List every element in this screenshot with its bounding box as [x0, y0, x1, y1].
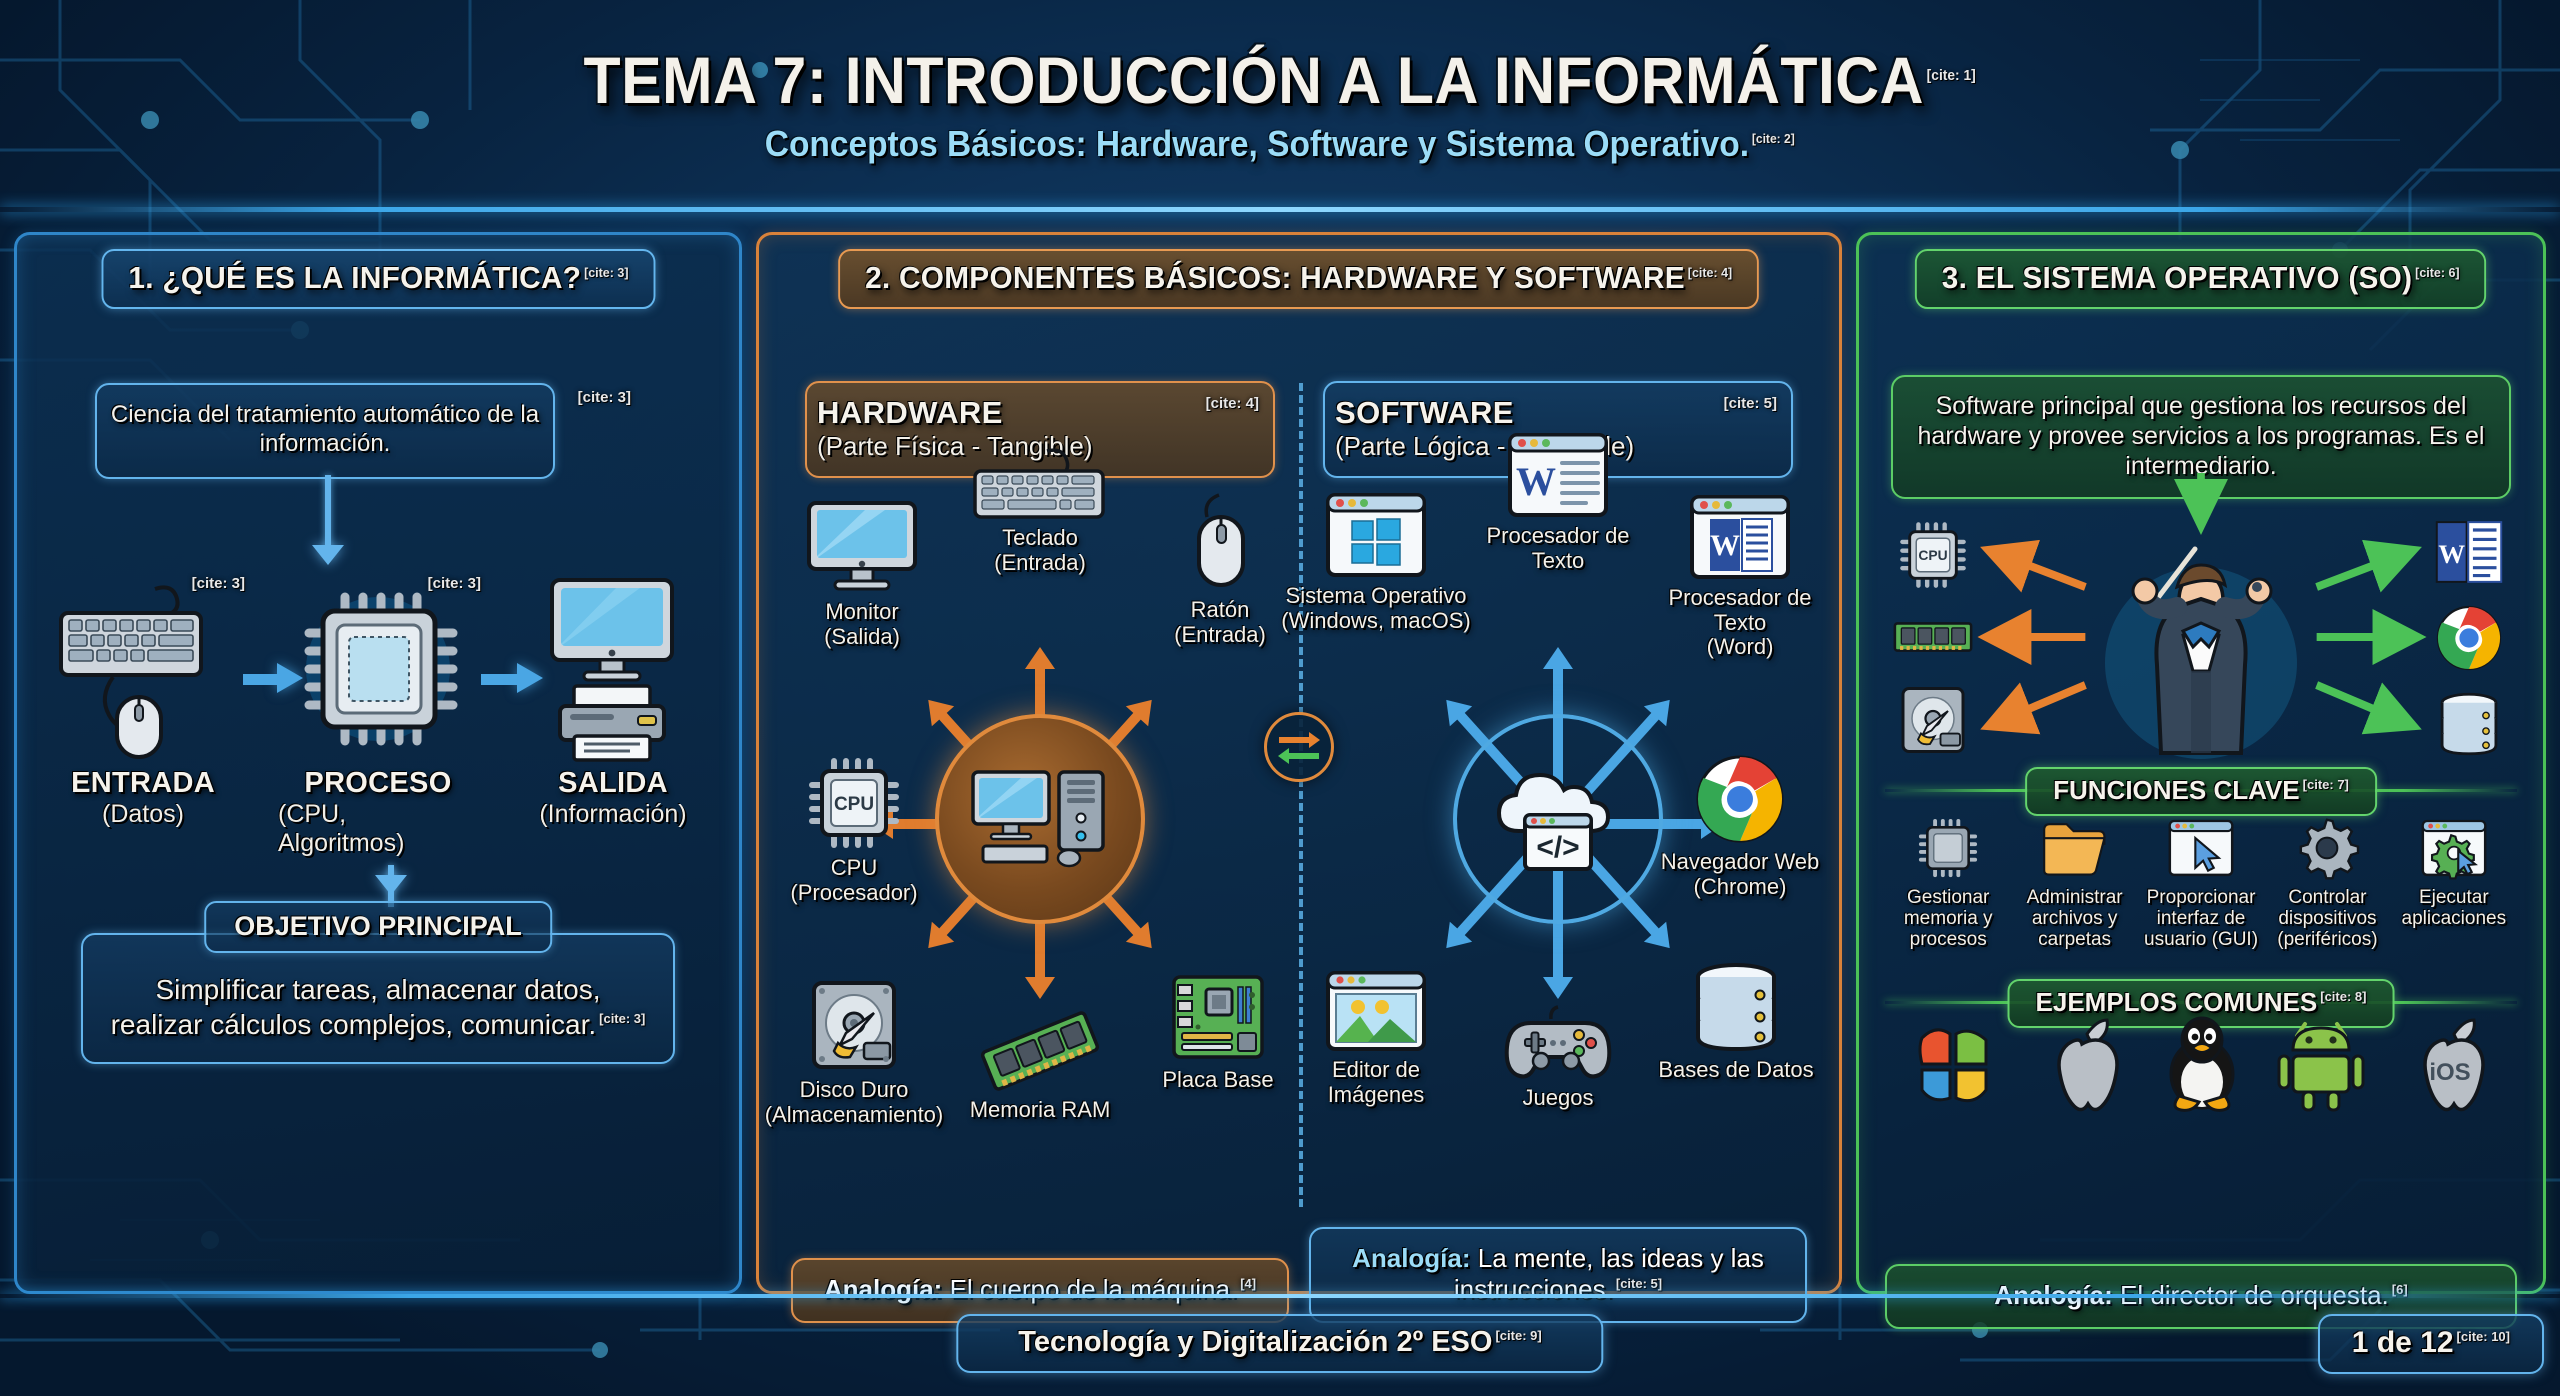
node-editor-imagenes: Editor de Imágenes	[1281, 969, 1471, 1107]
svg-text:</>: </>	[1536, 831, 1579, 864]
hardware-column: HARDWARE (Parte Física - Tangible) [cite…	[781, 381, 1299, 1331]
panel2-title-text: 2. COMPONENTES BÁSICOS: HARDWARE Y SOFTW…	[865, 260, 1685, 295]
software-hub-area: </>	[1299, 509, 1817, 1169]
cpu-chip-icon	[1917, 817, 1979, 879]
page-subtitle: Conceptos Básicos: Hardware, Software y …	[765, 123, 1795, 165]
node-cpu: CPU CPU(Procesador)	[759, 755, 949, 905]
flow-step-salida: SALIDA (Información)	[513, 571, 713, 829]
node-juegos-label: Juegos	[1523, 1085, 1594, 1110]
connector-arrow-obj	[375, 875, 407, 895]
page-indicator: 1 de 12[cite: 10]	[2318, 1314, 2544, 1374]
panel-sistema-operativo: 3. EL SISTEMA OPERATIVO (SO)[cite: 6] So…	[1856, 232, 2546, 1294]
funcion-4-label: Ejecutar aplicaciones	[2391, 888, 2517, 930]
linux-penguin-icon	[2163, 1016, 2241, 1112]
so-software-side: W	[2419, 509, 2519, 767]
node-disco-label: Disco Duro	[800, 1077, 909, 1102]
funcion-0-label: Gestionar memoria y procesos	[1885, 888, 2011, 951]
node-teclado: Teclado(Entrada)	[945, 449, 1135, 575]
panel3-title: 3. EL SISTEMA OPERATIVO (SO)[cite: 6]	[1915, 249, 2487, 309]
node-placa-label: Placa Base	[1162, 1067, 1273, 1092]
gear-icon	[2296, 817, 2358, 879]
node-procesador-label: Procesador de Texto	[1486, 523, 1629, 573]
node-raton-label: Ratón	[1191, 597, 1250, 622]
footer: Tecnología y Digitalización 2º ESO[cite:…	[0, 1294, 2560, 1396]
ejemplos-logos: iOS	[1889, 1009, 2513, 1119]
footer-subject: Tecnología y Digitalización 2º ESO[cite:…	[956, 1314, 1603, 1373]
node-so-label: Sistema Operativo	[1286, 583, 1467, 608]
panel1-title: 1. ¿QUÉ ES LA INFORMÁTICA?[cite: 3]	[101, 249, 655, 309]
node-chrome-sub: (Chrome)	[1694, 874, 1787, 899]
software-column: SOFTWARE (Parte Lógica - Intangible) [ci…	[1299, 381, 1817, 1331]
definition-citation: [cite: 3]	[578, 389, 631, 407]
hardware-citation: [cite: 4]	[1206, 395, 1259, 412]
node-sistema-operativo: Sistema Operativo(Windows, macOS)	[1281, 491, 1471, 633]
node-editor-label: Editor de Imágenes	[1328, 1057, 1425, 1107]
entrada-sublabel: (Datos)	[102, 800, 184, 829]
objective-heading: OBJETIVO PRINCIPAL	[204, 901, 552, 953]
node-monitor-sub: (Salida)	[824, 624, 900, 649]
svg-text:W: W	[1516, 459, 1556, 504]
ram-stick-icon	[975, 1009, 1105, 1093]
panel-componentes-basicos: 2. COMPONENTES BÁSICOS: HARDWARE Y SOFTW…	[756, 232, 1842, 1294]
svg-text:W: W	[2438, 539, 2465, 569]
header: TEMA 7: INTRODUCCIÓN A LA INFORMÁTICA[ci…	[0, 0, 2560, 212]
mouse-icon	[105, 677, 161, 757]
word-app-icon: W	[1688, 493, 1792, 581]
gear-cursor-window-icon	[2420, 817, 2488, 879]
node-teclado-label: Teclado	[1002, 525, 1078, 550]
hard-disk-icon	[808, 977, 900, 1073]
hardware-analogy-citation: [4]	[1240, 1276, 1256, 1292]
hardware-heading-text: HARDWARE	[817, 395, 1263, 431]
entrada-citation: [cite: 3]	[192, 575, 245, 592]
windows-logo-icon	[1908, 1018, 2000, 1110]
funcion-gestionar-memoria: Gestionar memoria y procesos	[1885, 817, 2011, 951]
funciones-citation: [cite: 7]	[2303, 777, 2349, 792]
chrome-icon	[1694, 753, 1786, 845]
keyboard-mouse-group	[55, 579, 231, 759]
node-navegador-web: Navegador Web(Chrome)	[1645, 753, 1835, 899]
header-divider	[0, 207, 2560, 212]
panel1-title-citation: [cite: 3]	[584, 265, 628, 280]
hardware-hub-area: Monitor(Salida)	[781, 509, 1299, 1169]
android-logo-icon	[2279, 1018, 2363, 1110]
cursor-window-icon	[2167, 817, 2235, 879]
node-word-sub: (Word)	[1707, 634, 1774, 659]
footer-subject-citation: [cite: 9]	[1495, 1328, 1541, 1343]
keyboard-icon	[61, 587, 201, 675]
definition-text: Ciencia del tratamiento automático de la…	[111, 401, 539, 457]
software-analogy-key: Analogía:	[1352, 1243, 1470, 1273]
title-citation: [cite: 1]	[1927, 68, 1976, 83]
objective-citation: [cite: 3]	[599, 1011, 645, 1027]
panel-que-es-la-informatica: 1. ¿QUÉ ES LA INFORMÁTICA?[cite: 3] Cien…	[14, 232, 742, 1294]
folder-icon	[2040, 817, 2110, 879]
salida-icons	[538, 571, 688, 767]
flow-step-proceso: [cite: 3] PROCESO (CPU, Algoritmos)	[278, 571, 478, 858]
node-raton-sub: (Entrada)	[1174, 622, 1266, 647]
funcion-interfaz-usuario: Proporcionar interfaz de usuario (GUI)	[2138, 817, 2264, 951]
bidirectional-exchange-icon	[1264, 712, 1334, 782]
funcion-controlar-dispositivos: Controlar dispositivos (periféricos)	[2264, 817, 2390, 951]
subtitle-citation: [cite: 2]	[1752, 131, 1795, 146]
page-subtitle-text: Conceptos Básicos: Hardware, Software y …	[765, 123, 1749, 164]
svg-text:iOS: iOS	[2429, 1059, 2470, 1086]
word-document-icon: W	[1506, 431, 1610, 519]
panel2-body: HARDWARE (Parte Física - Tangible) [cite…	[775, 309, 1823, 1337]
panel1-title-text: 1. ¿QUÉ ES LA INFORMÁTICA?	[128, 260, 581, 295]
funcion-2-label: Proporcionar interfaz de usuario (GUI)	[2138, 888, 2264, 951]
software-heading-text: SOFTWARE	[1335, 395, 1781, 431]
objective-text: Simplificar tareas, almacenar datos, rea…	[111, 974, 601, 1040]
node-cpu-label: CPU	[831, 855, 877, 880]
orchestra-conductor-icon	[2091, 513, 2311, 766]
node-word-label: Procesador de Texto	[1668, 585, 1811, 635]
infographic-canvas: TEMA 7: INTRODUCCIÓN A LA INFORMÁTICA[ci…	[0, 0, 2560, 1396]
panels-row: 1. ¿QUÉ ES LA INFORMÁTICA?[cite: 3] Cien…	[14, 232, 2546, 1294]
node-disco-duro: Disco Duro(Almacenamiento)	[759, 977, 949, 1127]
node-cpu-sub: (Procesador)	[790, 880, 917, 905]
gamepad-icon	[1503, 1003, 1613, 1081]
footer-subject-text: Tecnología y Digitalización 2º ESO	[1018, 1326, 1492, 1358]
panel2-title-citation: [cite: 4]	[1688, 265, 1732, 280]
entrada-label: ENTRADA	[71, 767, 215, 800]
svg-text:W: W	[1710, 529, 1740, 562]
node-monitor: Monitor(Salida)	[767, 499, 957, 649]
funciones-heading-text: FUNCIONES CLAVE	[2053, 775, 2300, 805]
page-indicator-citation: [cite: 10]	[2457, 1329, 2510, 1344]
definition-box: Ciencia del tratamiento automático de la…	[95, 383, 555, 479]
entrada-icons: [cite: 3]	[55, 571, 231, 767]
hardware-software-columns: HARDWARE (Parte Física - Tangible) [cite…	[781, 381, 1817, 1331]
footer-divider	[0, 1294, 2560, 1298]
node-disco-sub: (Almacenamiento)	[765, 1102, 944, 1127]
connector-line-def	[325, 475, 331, 549]
ios-apple-logo-icon: iOS	[2402, 1016, 2494, 1112]
cpu-chip-icon: CPU	[806, 755, 902, 851]
flow-bar-2	[481, 674, 517, 685]
funciones-clave-heading: FUNCIONES CLAVE[cite: 7]	[2025, 767, 2377, 816]
funcion-3-label: Controlar dispositivos (periféricos)	[2264, 888, 2390, 951]
funcion-administrar-archivos: Administrar archivos y carpetas	[2011, 817, 2137, 951]
salida-label: SALIDA	[558, 767, 668, 800]
desktop-computer-icon	[965, 764, 1115, 874]
flow-step-entrada: [cite: 3] ENTRADA (Datos)	[43, 571, 243, 829]
proceso-icons: [cite: 3]	[295, 571, 461, 767]
node-memoria-ram: Memoria RAM	[945, 1009, 1135, 1123]
node-teclado-sub: (Entrada)	[994, 550, 1086, 575]
page-title-text: TEMA 7: INTRODUCCIÓN A LA INFORMÁTICA	[584, 43, 1924, 117]
node-bases-label: Bases de Datos	[1658, 1057, 1813, 1082]
funcion-ejecutar-aplicaciones: Ejecutar aplicaciones	[2391, 817, 2517, 951]
word-app-icon: W	[2433, 519, 2505, 585]
apple-logo-icon	[2039, 1016, 2125, 1112]
node-ram-label: Memoria RAM	[970, 1097, 1111, 1122]
chrome-icon	[2435, 604, 2503, 672]
panel3-title-text: 3. EL SISTEMA OPERATIVO (SO)	[1942, 260, 2413, 295]
database-icon	[2435, 691, 2503, 757]
monitor-icon	[803, 499, 921, 595]
node-monitor-label: Monitor	[825, 599, 898, 624]
motherboard-icon	[1168, 971, 1268, 1063]
database-icon	[1688, 961, 1784, 1053]
flow-entrada-proceso-salida: [cite: 3] ENTRADA (Datos)	[43, 571, 713, 871]
printer-icon	[560, 686, 664, 760]
mouse-icon	[1185, 493, 1255, 593]
node-procesador-texto: W Procesador de Texto	[1463, 431, 1653, 573]
node-so-sub: (Windows, macOS)	[1281, 608, 1470, 633]
monitor-printer-group	[538, 574, 688, 764]
page-title: TEMA 7: INTRODUCCIÓN A LA INFORMÁTICA[ci…	[584, 47, 1976, 114]
proceso-sublabel: (CPU, Algoritmos)	[278, 800, 478, 858]
software-hub: </>	[1453, 714, 1663, 924]
orchestra-diagram: CPU	[1883, 509, 2519, 767]
funciones-list: Gestionar memoria y procesos Administrar…	[1885, 817, 2517, 951]
keyboard-icon	[971, 449, 1109, 521]
ejemplos-citation: [cite: 8]	[2320, 989, 2366, 1004]
node-juegos: Juegos	[1463, 1003, 1653, 1111]
proceso-citation: [cite: 3]	[428, 575, 481, 592]
windows-window-icon	[1324, 491, 1428, 579]
hardware-hub	[935, 714, 1145, 924]
connector-arrow-def	[312, 545, 344, 565]
panel3-title-citation: [cite: 6]	[2415, 265, 2459, 280]
monitor-icon	[552, 580, 672, 680]
cpu-chip-icon	[295, 581, 461, 757]
salida-sublabel: (Información)	[539, 800, 686, 829]
flow-bar-1	[243, 674, 279, 685]
image-editor-icon	[1324, 969, 1428, 1053]
software-analogy-citation: [cite: 5]	[1616, 1276, 1662, 1292]
panel3-body: Software principal que gestiona los recu…	[1875, 309, 2527, 1337]
page-indicator-text: 1 de 12	[2352, 1326, 2454, 1359]
panel2-title: 2. COMPONENTES BÁSICOS: HARDWARE Y SOFTW…	[839, 249, 1760, 309]
funcion-1-label: Administrar archivos y carpetas	[2011, 888, 2137, 951]
cloud-code-icon: </>	[1483, 759, 1633, 879]
proceso-label: PROCESO	[304, 767, 451, 800]
node-bases-datos: Bases de Datos	[1641, 961, 1831, 1083]
node-chrome-label: Navegador Web	[1661, 849, 1820, 874]
software-citation: [cite: 5]	[1724, 395, 1777, 412]
panel1-body: Ciencia del tratamiento automático de la…	[33, 309, 723, 1337]
node-word: W Procesador de Texto(Word)	[1645, 493, 1835, 660]
svg-text:CPU: CPU	[834, 794, 874, 815]
